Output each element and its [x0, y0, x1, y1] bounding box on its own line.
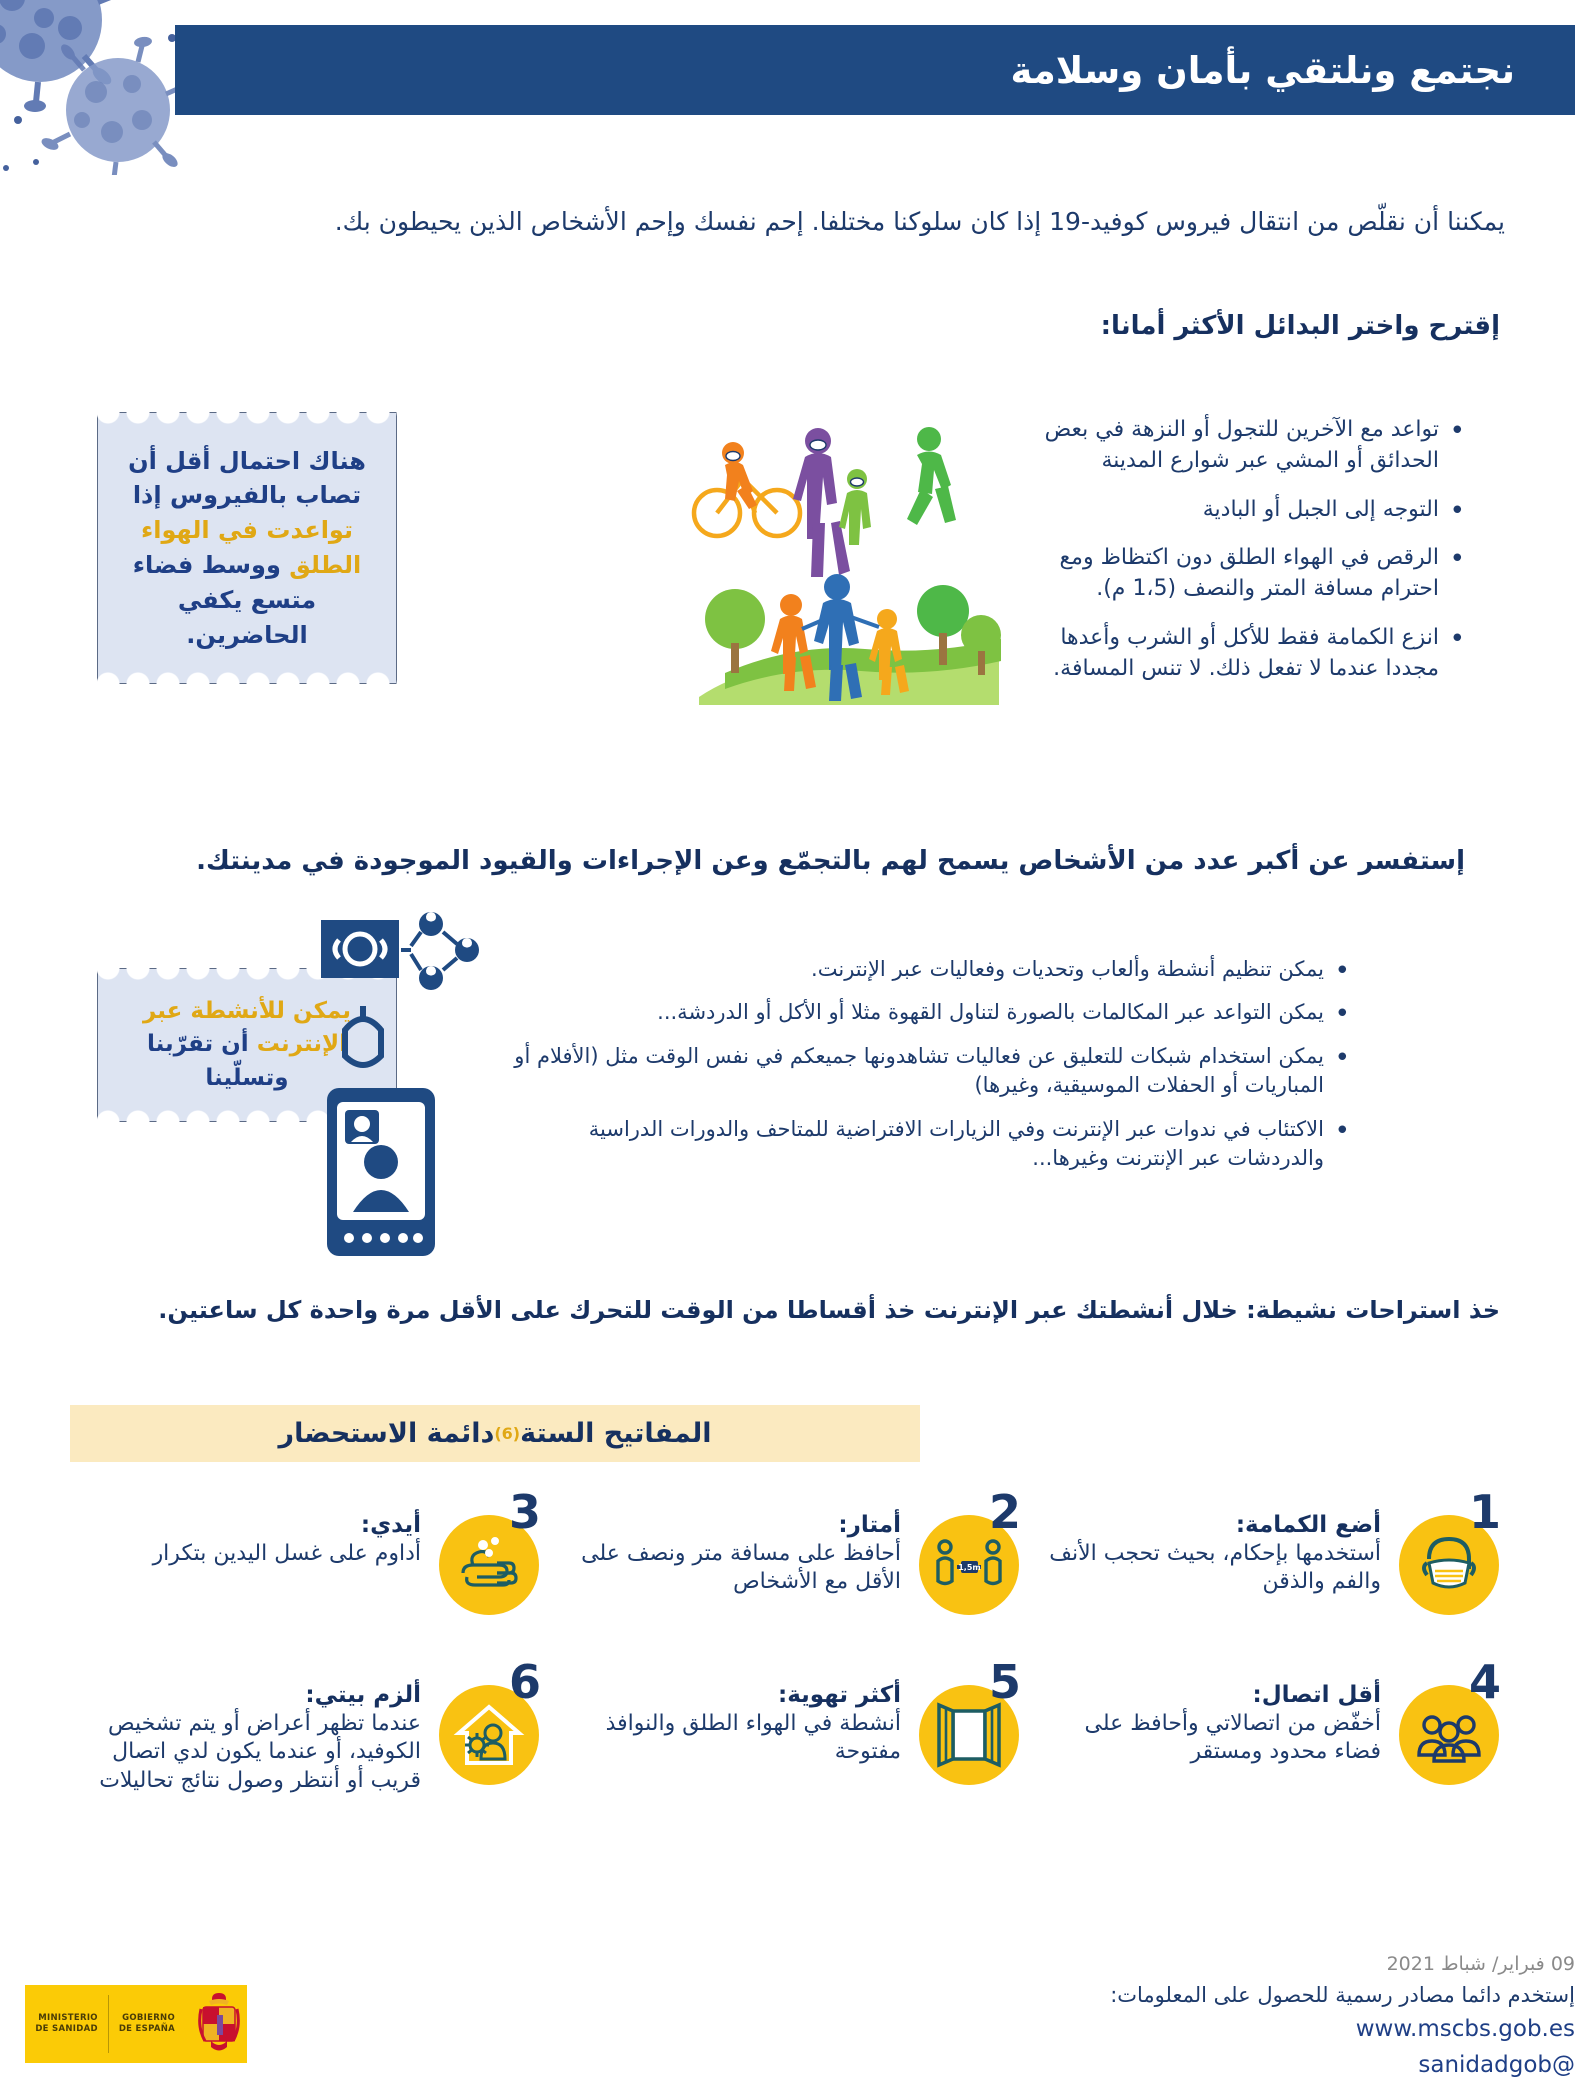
logo-gobierno-column: GOBIERNO DE ESPAÑA	[109, 2013, 185, 2036]
list-item: الرقص في الهواء الطلق دون اكتظاظ ومع احت…	[1035, 543, 1465, 605]
group-people-icon	[1413, 1699, 1485, 1771]
poster-header: نجتمع ونلتقي بأمان وسلامة	[175, 25, 1575, 115]
key-body-3: أداوم على غسل اليدين بتكرار	[77, 1540, 421, 1569]
outdoor-activities-illustration	[685, 405, 1015, 735]
page-title: نجتمع ونلتقي بأمان وسلامة	[1010, 49, 1515, 92]
key-card-2: 2 1,5m	[545, 1485, 1025, 1623]
list-item: الاكتئاب في ندوات عبر الإنترنت وفي الزيا…	[510, 1115, 1350, 1174]
logo-gobierno-line2: DE ESPAÑA	[119, 2024, 175, 2035]
six-keys-grid: 1 أضع الكمامة: أستخدمه	[65, 1485, 1505, 1796]
key-number-1: 1	[1469, 1489, 1501, 1535]
logo-ministerio-line2: DE SANIDAD	[35, 2024, 98, 2035]
key-title-2: أمتار:	[557, 1511, 901, 1540]
online-bullet-list: يمكن تنظيم أنشطة وألعاب وتحديات وفعاليات…	[510, 955, 1350, 1187]
spain-coat-of-arms-icon	[191, 1989, 247, 2059]
key-number-2: 2	[989, 1489, 1021, 1535]
key-text-5: أكثر تهوية: أنشطة في الهواء الطلق والنوا…	[557, 1663, 913, 1767]
key-badge-5: 5	[913, 1663, 1025, 1793]
active-breaks-note: خذ استراحات نشيطة: خلال أنشطتك عبر الإنت…	[70, 1295, 1500, 1326]
key-body-4: أخفّض من اتصالاتي وأحافظ على فضاء محدود …	[1037, 1710, 1381, 1767]
list-item: يمكن تنظيم أنشطة وألعاب وتحديات وفعاليات…	[510, 955, 1350, 984]
social-distance-icon: 1,5m	[933, 1529, 1005, 1601]
online-activities-illustration	[315, 910, 505, 1260]
key-number-3: 3	[509, 1489, 541, 1535]
key-card-4: 4	[1025, 1655, 1505, 1796]
key-card-6: 6 ألزم بيتي	[65, 1655, 545, 1796]
key-text-2: أمتار: أحافظ على مسافة متر ونصف على الأق…	[557, 1493, 913, 1597]
key-number-6: 6	[509, 1659, 541, 1705]
outdoor-bullet-list: تواعد مع الآخرين للتجول أو النزهة في بعض…	[1035, 415, 1465, 703]
logo-gobierno-line1: GOBIERNO	[119, 2013, 175, 2024]
key-card-5: 5 أكثر تهوية: أنشطة في الهواء الطلق والن…	[545, 1655, 1025, 1796]
poster-page: نجتمع ونلتقي بأمان وسلامة يمكننا أن نقلّ…	[0, 0, 1575, 2100]
distance-label: 1,5m	[958, 1563, 981, 1572]
handwash-icon	[453, 1529, 525, 1601]
key-number-5: 5	[989, 1659, 1021, 1705]
key-card-1: 1 أضع الكمامة: أستخدمه	[1025, 1485, 1505, 1623]
footer-website-link[interactable]: www.mscbs.gob.es	[85, 2012, 1575, 2048]
face-mask-icon	[1413, 1529, 1485, 1601]
callout-outdoor-part1: هناك احتمال أقل أن تصاب بالفيروس إذا	[128, 447, 366, 510]
six-keys-banner-suffix: دائمة الاستحضار	[279, 1418, 495, 1449]
intro-paragraph: يمكننا أن نقلّص من انتقال فيروس كوفيد-19…	[70, 205, 1505, 239]
key-title-6: ألزم بيتي:	[77, 1681, 421, 1710]
key-body-5: أنشطة في الهواء الطلق والنوافذ مفتوحة	[557, 1710, 901, 1767]
six-keys-banner: المفاتيح الستة (6) دائمة الاستحضار	[70, 1405, 920, 1462]
six-keys-banner-number: (6)	[494, 1424, 520, 1443]
key-text-6: ألزم بيتي: عندما تظهر أعراض أو يتم تشخيص…	[77, 1663, 433, 1796]
key-badge-3: 3	[433, 1493, 545, 1623]
gobierno-de-espana-logo: GOBIERNO DE ESPAÑA MINISTERIO DE SANIDAD	[25, 1985, 247, 2063]
key-badge-4: 4	[1393, 1663, 1505, 1793]
logo-ministerio-line1: MINISTERIO	[35, 2013, 98, 2024]
logo-text-block: GOBIERNO DE ESPAÑA MINISTERIO DE SANIDAD	[25, 1989, 247, 2059]
key-text-1: أضع الكمامة: أستخدمها بإحكام، بحيث تحجب …	[1037, 1493, 1393, 1597]
key-title-5: أكثر تهوية:	[557, 1681, 901, 1710]
key-body-1: أستخدمها بإحكام، بحيث تحجب الأنف والفم و…	[1037, 1540, 1381, 1597]
key-body-6: عندما تظهر أعراض أو يتم تشخيص الكوفيد، أ…	[77, 1710, 421, 1796]
footer-advice: إستخدم دائما مصادر رسمية للحصول على المع…	[85, 1979, 1575, 2012]
six-keys-banner-prefix: المفاتيح الستة	[520, 1418, 711, 1449]
key-title-3: أيدي:	[77, 1511, 421, 1540]
six-keys-row-bottom: 4	[65, 1655, 1505, 1796]
key-card-3: 3	[65, 1485, 545, 1623]
open-window-icon	[933, 1699, 1005, 1771]
key-title-4: أقل اتصال:	[1037, 1681, 1381, 1710]
footer-social-handle[interactable]: @sanidadgob	[85, 2048, 1575, 2084]
section-online-heading: إستفسر عن أكبر عدد من الأشخاص يسمح لهم ب…	[70, 845, 1465, 879]
key-badge-6: 6	[433, 1663, 545, 1793]
list-item: يمكن التواعد عبر المكالمات بالصورة لتناو…	[510, 998, 1350, 1027]
list-item: انزع الكمامة فقط للأكل أو الشرب وأعدها م…	[1035, 623, 1465, 685]
key-title-1: أضع الكمامة:	[1037, 1511, 1381, 1540]
key-text-3: أيدي: أداوم على غسل اليدين بتكرار	[77, 1493, 433, 1568]
stay-home-icon	[453, 1699, 525, 1771]
key-badge-2: 2 1,5m	[913, 1493, 1025, 1623]
list-item: تواعد مع الآخرين للتجول أو النزهة في بعض…	[1035, 415, 1465, 477]
key-number-4: 4	[1469, 1659, 1501, 1705]
footer-info: 09 فبراير/ شباط 2021 إستخدم دائما مصادر …	[85, 1950, 1575, 2083]
key-body-2: أحافظ على مسافة متر ونصف على الأقل مع ال…	[557, 1540, 901, 1597]
key-text-4: أقل اتصال: أخفّض من اتصالاتي وأحافظ على …	[1037, 1663, 1393, 1767]
footer-date: 09 فبراير/ شباط 2021	[85, 1950, 1575, 1979]
callout-outdoor: هناك احتمال أقل أن تصاب بالفيروس إذا توا…	[97, 412, 397, 684]
list-item: يمكن استخدام شبكات للتعليق عن فعاليات تش…	[510, 1042, 1350, 1101]
logo-divider	[108, 1995, 109, 2053]
section-outdoor-heading: إقترح واختر البدائل الأكثر أمانا:	[70, 310, 1500, 344]
six-keys-row-top: 1 أضع الكمامة: أستخدمه	[65, 1485, 1505, 1623]
key-badge-1: 1	[1393, 1493, 1505, 1623]
logo-ministerio-column: MINISTERIO DE SANIDAD	[25, 2013, 108, 2036]
list-item: التوجه إلى الجبل أو البادية	[1035, 495, 1465, 526]
